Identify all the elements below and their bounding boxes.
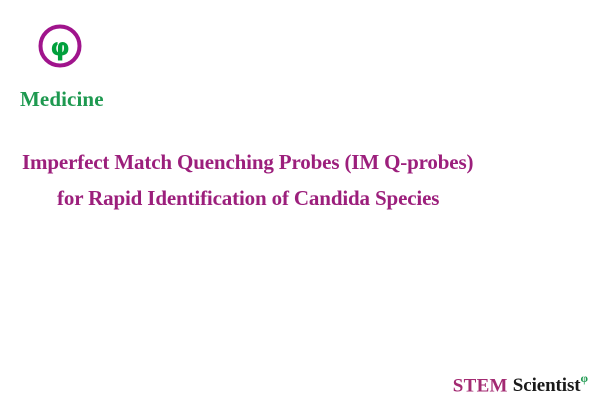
journal-section-label: Medicine [20,87,104,112]
article-title: Imperfect Match Quenching Probes (IM Q-p… [0,150,600,211]
article-title-line-2: for Rapid Identification of Candida Spec… [0,186,600,211]
brand-stem-text: STEM [453,375,508,396]
brand-lockup: STEMScientistφ [453,374,588,395]
brand-scientist-text: Scientist [513,375,581,396]
article-title-line-1: Imperfect Match Quenching Probes (IM Q-p… [0,150,600,175]
phi-in-circle-logo-icon: φ [37,23,83,69]
brand-phi-icon: φ [581,371,589,385]
title-card-page: φ Medicine Imperfect Match Quenching Pro… [0,0,600,403]
svg-text:φ: φ [50,33,70,62]
